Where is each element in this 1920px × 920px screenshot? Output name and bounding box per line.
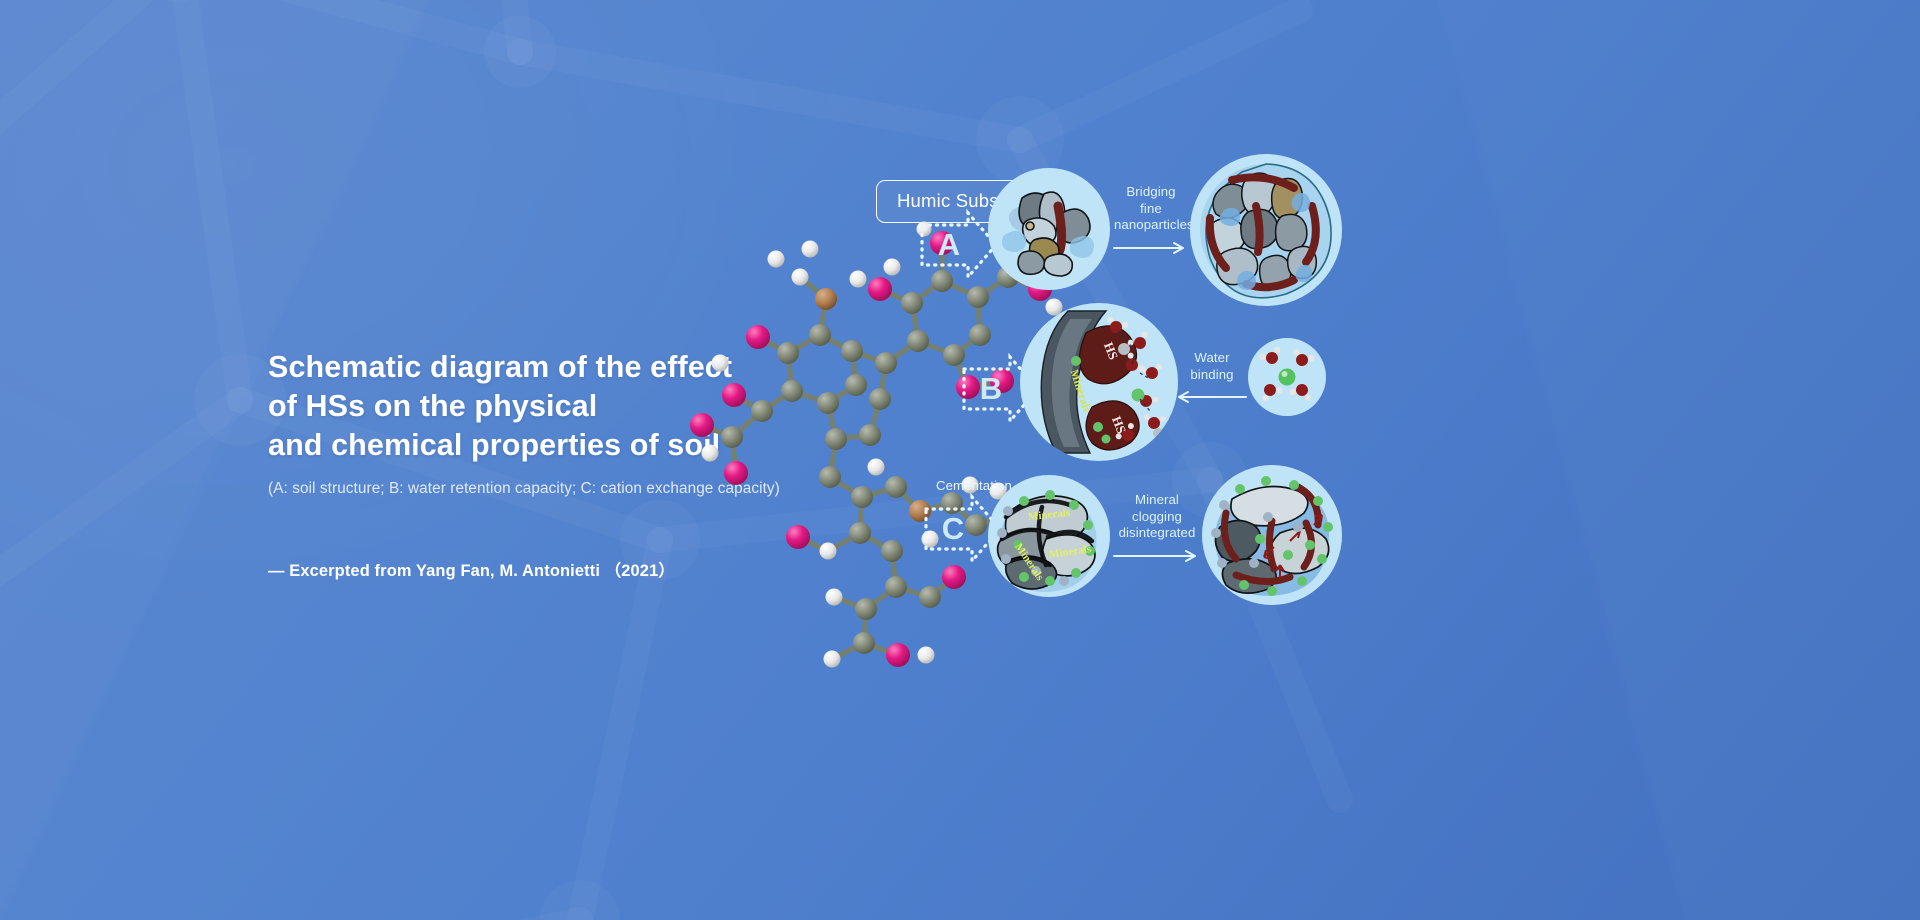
- flow-b: Water binding: [1178, 350, 1246, 404]
- circle-cemented-mineral-clog: Minerals Minerals Minerals: [988, 475, 1110, 597]
- flow-a: Bridging fine nanoparticles: [1114, 184, 1188, 255]
- step-letter-b: B: [958, 352, 1024, 426]
- flow-a-arrow: [1114, 241, 1188, 255]
- poster-canvas: Schematic diagram of the effect of HSs o…: [0, 0, 1920, 920]
- flow-c-caption: Mineral clogging disintegrated: [1114, 492, 1200, 542]
- flow-a-caption: Bridging fine nanoparticles: [1114, 184, 1188, 234]
- circle-disintegrated-mineral-clog: [1202, 465, 1342, 605]
- step-letter-a: A: [916, 208, 982, 282]
- circle-soil-particles-loose: [988, 168, 1110, 290]
- circle-soil-aggregate-bridged: [1190, 154, 1342, 306]
- flow-c-arrow: [1114, 549, 1200, 563]
- circle-water-retention-hs-minerals: HS HS Minerals: [1020, 303, 1178, 461]
- step-letter-c: C: [920, 492, 986, 566]
- flow-b-caption: Water binding: [1178, 350, 1246, 383]
- circle-hydrated-cation: [1248, 338, 1326, 416]
- flow-b-arrow: [1178, 390, 1246, 404]
- schematic-diagram: Humic Substances: [840, 120, 1900, 820]
- flow-c: Mineral clogging disintegrated: [1114, 492, 1200, 563]
